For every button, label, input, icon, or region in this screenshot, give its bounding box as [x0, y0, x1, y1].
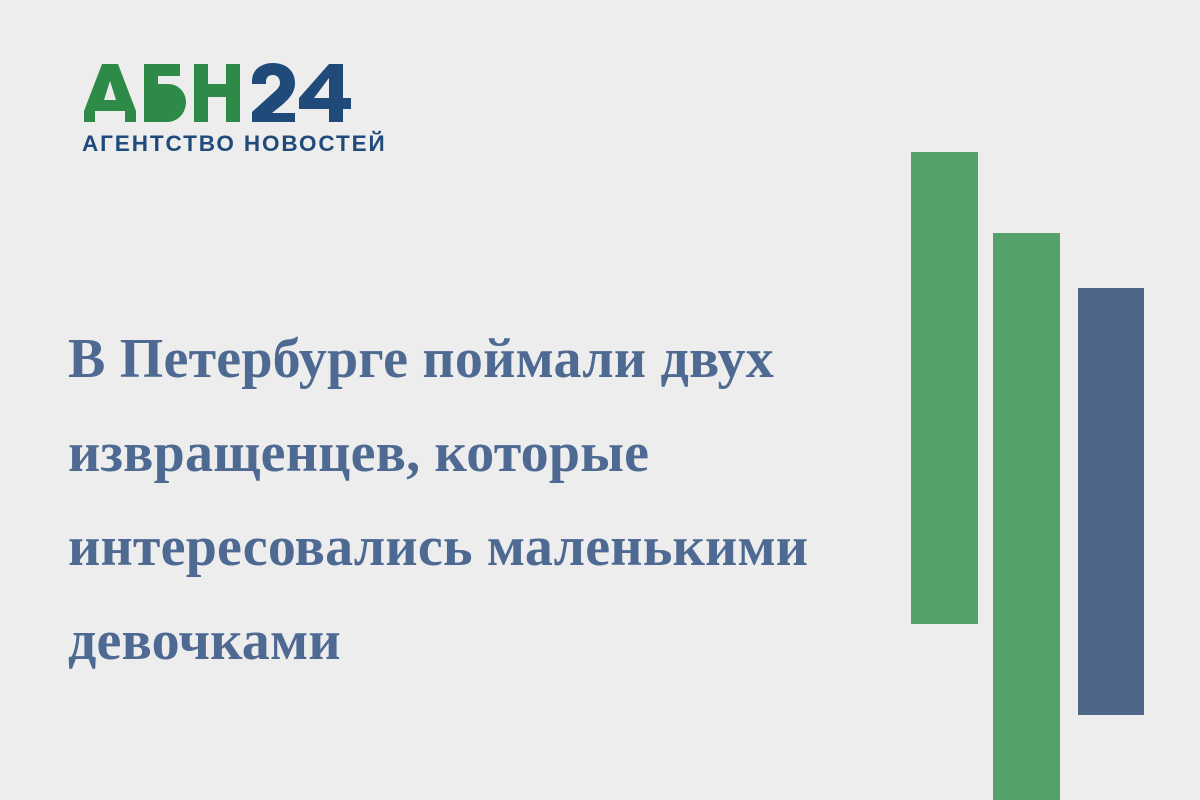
brand-tagline: АГЕНТСТВО НОВОСТЕЙ — [82, 133, 380, 156]
news-card: АГЕНТСТВО НОВОСТЕЙ В Петербурге поймали … — [0, 0, 1200, 800]
abn24-logotype-icon — [80, 62, 352, 124]
decorative-bar-3 — [1078, 288, 1144, 715]
decorative-bar-1 — [911, 152, 978, 624]
headline-line-3: интересовались маленькими — [68, 500, 878, 594]
headline-line-2: извращенцев, которые — [68, 406, 878, 500]
headline-line-1: В Петербурге поймали двух — [68, 312, 878, 406]
brand-logo: АГЕНТСТВО НОВОСТЕЙ — [80, 62, 380, 156]
headline: В Петербурге поймали двух извращенцев, к… — [68, 312, 878, 688]
decorative-bar-2 — [993, 233, 1060, 800]
headline-line-4: девочками — [68, 594, 878, 688]
